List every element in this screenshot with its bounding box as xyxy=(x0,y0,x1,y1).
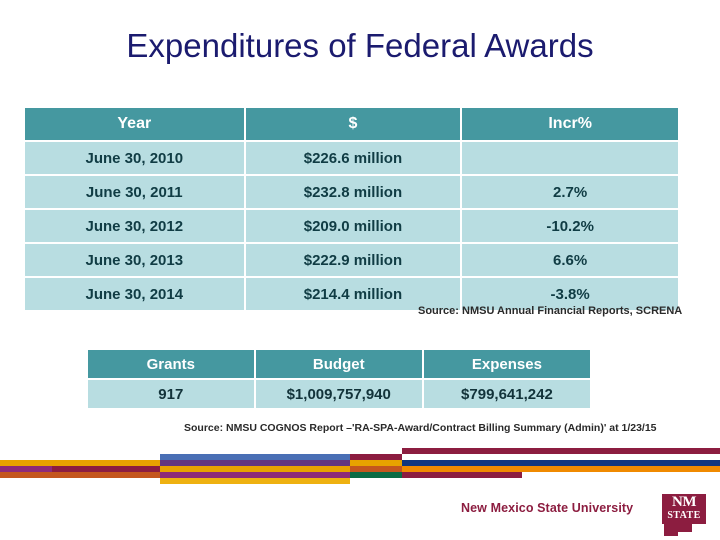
source-note-grants: Source: NMSU COGNOS Report –'RA-SPA-Awar… xyxy=(184,422,657,434)
cell-year: June 30, 2012 xyxy=(25,210,246,244)
cell-year: June 30, 2011 xyxy=(25,176,246,210)
university-name: New Mexico State University xyxy=(461,501,633,515)
cell-amount: $226.6 million xyxy=(246,142,463,176)
column-header-incr: Incr% xyxy=(462,108,678,142)
cell-amount: $222.9 million xyxy=(246,244,463,278)
source-note-expenditures: Source: NMSU Annual Financial Reports, S… xyxy=(418,305,682,317)
table-row: June 30, 2013 $222.9 million 6.6% xyxy=(25,244,678,278)
cell-incr: 6.6% xyxy=(462,244,678,278)
color-bar-3 xyxy=(0,472,160,478)
table-body: June 30, 2010 $226.6 million June 30, 20… xyxy=(25,142,678,310)
cell-incr xyxy=(462,142,678,176)
decorative-color-bars xyxy=(0,448,720,496)
color-bar-12 xyxy=(350,472,402,478)
cell-expenses: $799,641,242 xyxy=(424,380,590,408)
page-title: Expenditures of Federal Awards xyxy=(0,26,720,66)
logo-box: NM STATE xyxy=(662,494,706,524)
column-header-expenses: Expenses xyxy=(424,350,590,380)
column-header-budget: Budget xyxy=(256,350,424,380)
column-header-year: Year xyxy=(25,108,246,142)
table-header-row: Grants Budget Expenses xyxy=(88,350,590,380)
color-bar-8 xyxy=(160,478,350,484)
cell-grants: 917 xyxy=(88,380,256,408)
logo-text-state: STATE xyxy=(662,510,706,521)
table-header-row: Year $ Incr% xyxy=(25,108,678,142)
cell-amount: $232.8 million xyxy=(246,176,463,210)
table-head: Year $ Incr% xyxy=(25,108,678,142)
color-bar-16 xyxy=(402,472,522,478)
logo-state-outline-upper xyxy=(664,524,692,532)
table-row: June 30, 2012 $209.0 million -10.2% xyxy=(25,210,678,244)
expenditures-table: Year $ Incr% June 30, 2010 $226.6 millio… xyxy=(25,108,678,310)
logo-text-nm: NM xyxy=(662,494,706,510)
nmsu-logo: NM STATE xyxy=(662,494,706,536)
cell-budget: $1,009,757,940 xyxy=(256,380,424,408)
table-row: June 30, 2011 $232.8 million 2.7% xyxy=(25,176,678,210)
cell-year: June 30, 2014 xyxy=(25,278,246,310)
logo-state-outline-lower xyxy=(664,532,678,536)
grants-summary-table: Grants Budget Expenses 917 $1,009,757,94… xyxy=(88,350,590,408)
cell-amount: $209.0 million xyxy=(246,210,463,244)
table-row: 917 $1,009,757,940 $799,641,242 xyxy=(88,380,590,408)
table-body: 917 $1,009,757,940 $799,641,242 xyxy=(88,380,590,408)
cell-year: June 30, 2013 xyxy=(25,244,246,278)
column-header-amount: $ xyxy=(246,108,463,142)
color-bar-13 xyxy=(402,448,720,454)
cell-incr: -10.2% xyxy=(462,210,678,244)
cell-year: June 30, 2010 xyxy=(25,142,246,176)
table-head: Grants Budget Expenses xyxy=(88,350,590,380)
column-header-grants: Grants xyxy=(88,350,256,380)
table-row: June 30, 2010 $226.6 million xyxy=(25,142,678,176)
cell-incr: 2.7% xyxy=(462,176,678,210)
